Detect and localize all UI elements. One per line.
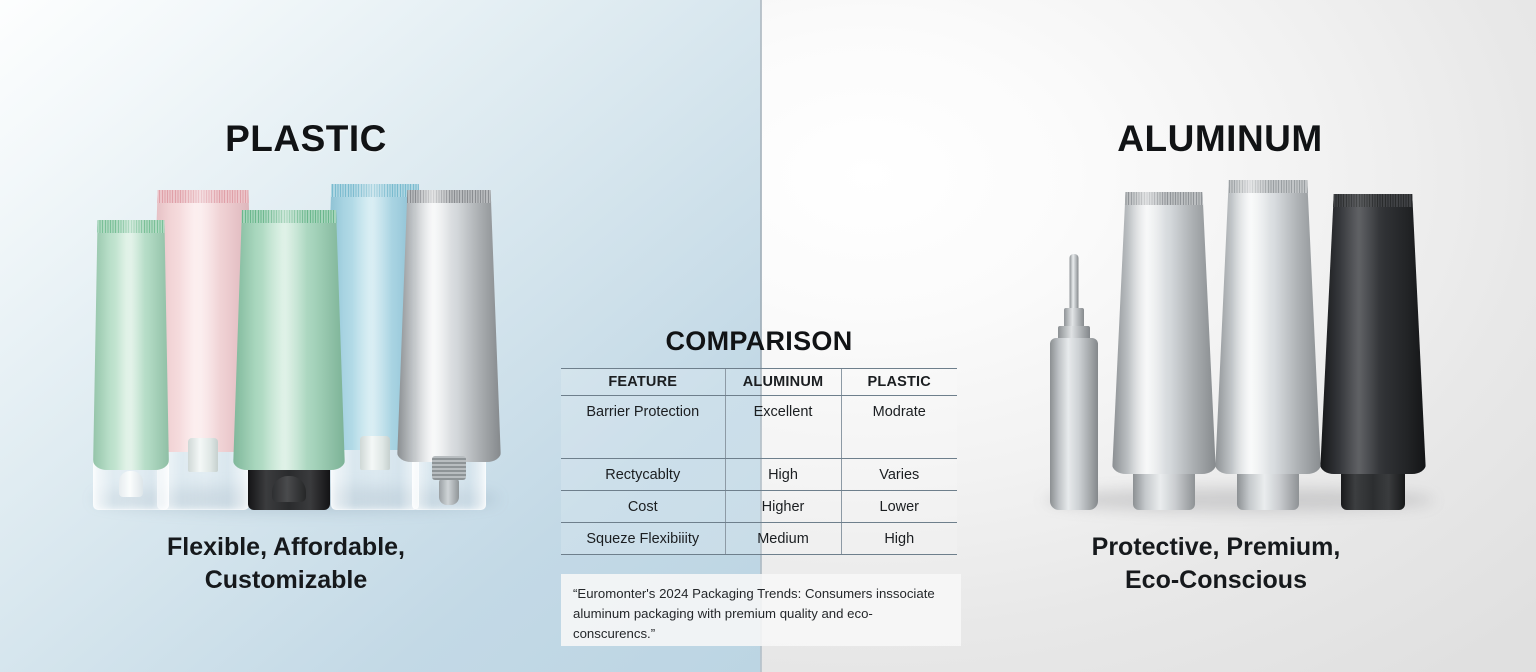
cell-plastic: Lower	[841, 491, 957, 523]
tube-crimp	[402, 190, 496, 203]
quote-text: “Euromonter's 2024 Packaging Trends: Con…	[573, 586, 935, 641]
cell-aluminum: Higher	[725, 491, 841, 523]
tube-highlight	[93, 220, 169, 470]
dropper-collar-icon	[1064, 308, 1084, 328]
bottle-body	[1050, 338, 1098, 510]
tube-highlight	[1112, 192, 1216, 474]
cell-feature: Barrier Protection	[561, 396, 725, 459]
comparison-table: FEATURE ALUMINUM PLASTIC Barrier Protect…	[561, 368, 957, 555]
tube-body	[1320, 194, 1426, 474]
tube-crimp	[97, 220, 165, 233]
table-header-row: FEATURE ALUMINUM PLASTIC	[561, 369, 957, 396]
pump-nozzle-icon	[360, 436, 390, 470]
quote-callout: “Euromonter's 2024 Packaging Trends: Con…	[561, 574, 961, 646]
comparison-infographic: PLASTIC	[0, 0, 1536, 672]
product-mint-green-tube-large[interactable]	[233, 210, 345, 510]
product-mint-green-tube-small[interactable]	[93, 220, 169, 510]
tube-crimp	[154, 190, 252, 203]
cell-aluminum: Medium	[725, 523, 841, 555]
tube-crimp	[1325, 194, 1421, 207]
plastic-product-group	[85, 160, 505, 510]
cell-feature: Squeze Flexibiiity	[561, 523, 725, 555]
table-row: Cost Higher Lower	[561, 491, 957, 523]
product-silver-plastic-tube[interactable]	[397, 190, 501, 510]
tube-crimp	[1123, 192, 1205, 205]
caption-aluminum: Protective, Premium, Eco-Conscious	[1016, 531, 1416, 597]
aluminum-product-group	[1040, 160, 1440, 510]
page-title-aluminum: ALUMINUM	[1020, 118, 1420, 160]
column-header-feature: FEATURE	[561, 369, 725, 396]
tube-crimp	[1221, 180, 1315, 193]
product-aluminum-tube-2[interactable]	[1215, 180, 1321, 510]
caption-plastic: Flexible, Affordable, Customizable	[86, 531, 486, 597]
caption-aluminum-line1: Protective, Premium,	[1016, 531, 1416, 564]
tube-body	[233, 210, 345, 470]
product-aluminum-dropper-bottle[interactable]	[1050, 210, 1098, 510]
cell-plastic: Varies	[841, 459, 957, 491]
product-aluminum-tube-black[interactable]	[1320, 194, 1426, 510]
tube-highlight	[1215, 180, 1321, 474]
column-header-aluminum: ALUMINUM	[725, 369, 841, 396]
tube-screw-threads	[432, 456, 466, 480]
table-row: Rectycablty High Varies	[561, 459, 957, 491]
tube-body	[93, 220, 169, 470]
cell-feature: Rectycablty	[561, 459, 725, 491]
tube-body	[1112, 192, 1216, 474]
column-header-plastic: PLASTIC	[841, 369, 957, 396]
tube-body	[397, 190, 501, 462]
dropper-tip-icon	[1070, 254, 1079, 312]
cell-feature: Cost	[561, 491, 725, 523]
tube-crimp	[237, 210, 341, 223]
cell-plastic: Modrate	[841, 396, 957, 459]
caption-plastic-line1: Flexible, Affordable,	[86, 531, 486, 564]
tube-highlight	[1320, 194, 1426, 474]
product-aluminum-tube-1[interactable]	[1112, 192, 1216, 510]
tube-highlight	[397, 190, 501, 462]
pump-nozzle-icon	[188, 438, 218, 472]
comparison-title: COMPARISON	[561, 326, 957, 357]
cell-plastic: High	[841, 523, 957, 555]
table-row: Squeze Flexibiiity Medium High	[561, 523, 957, 555]
caption-plastic-line2: Customizable	[86, 564, 486, 597]
cell-aluminum: Excellent	[725, 396, 841, 459]
tube-body	[1215, 180, 1321, 474]
cell-aluminum: High	[725, 459, 841, 491]
tube-highlight	[233, 210, 345, 470]
page-title-plastic: PLASTIC	[106, 118, 506, 160]
caption-aluminum-line2: Eco-Conscious	[1016, 564, 1416, 597]
table-row: Barrier Protection Excellent Modrate	[561, 396, 957, 459]
black-flip-cap-icon	[248, 464, 330, 510]
